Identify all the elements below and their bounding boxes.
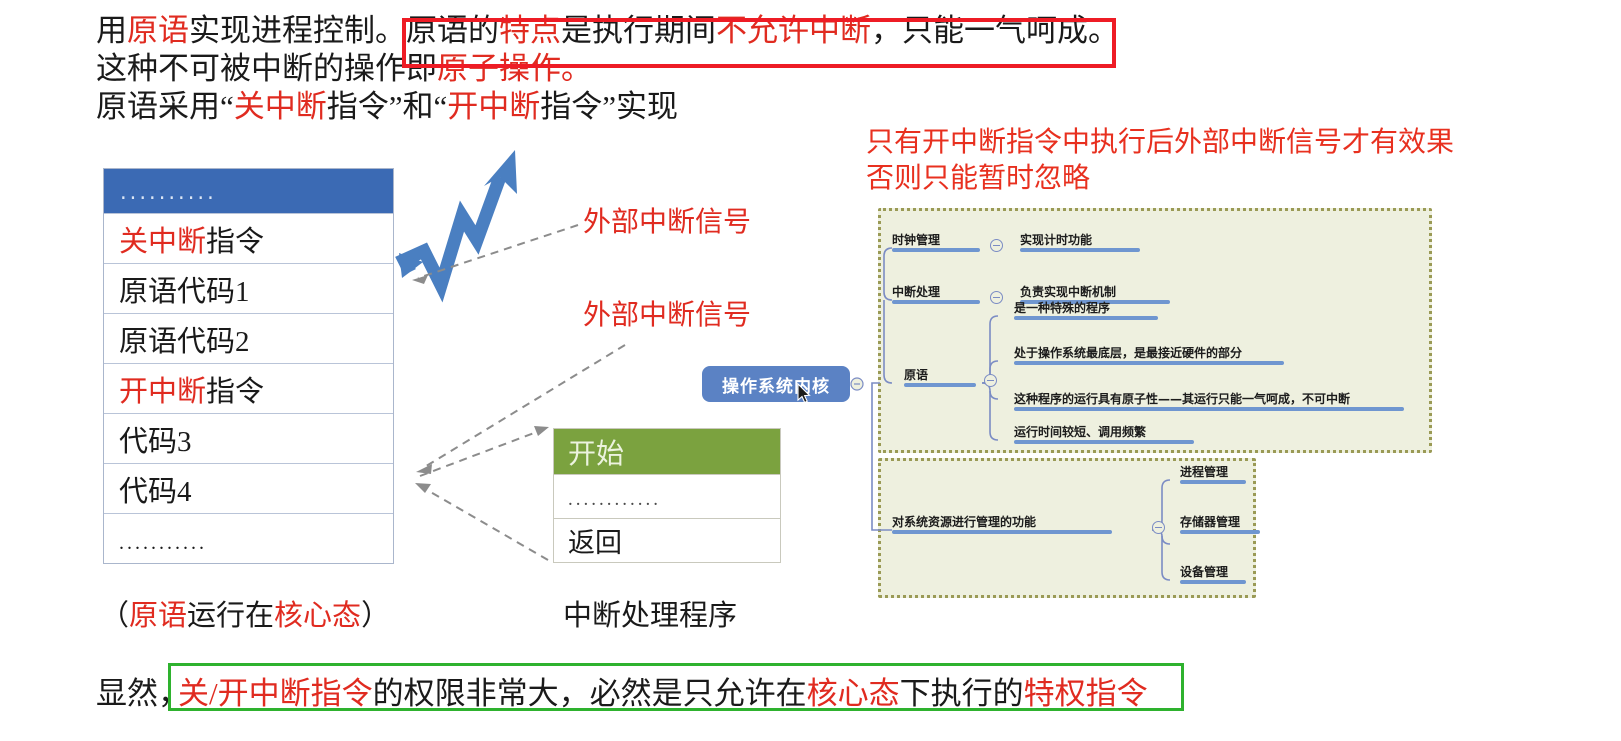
text-run: 原语的: [406, 13, 499, 48]
text-run: 的权限非常大，必然是只允许在: [373, 676, 807, 711]
mindmap-node-interrupt-handling[interactable]: 中断处理: [892, 283, 940, 300]
bottom-conclusion-prefix: 显然，: [96, 668, 189, 713]
mindmap: 时钟管理实现计时功能中断处理负责实现中断机制原语是一种特殊的程序处于操作系统最底…: [862, 200, 1432, 600]
text-run: 下执行的: [900, 676, 1024, 711]
mindmap-node-primitive-child-1[interactable]: 是一种特殊的程序: [1014, 299, 1110, 316]
mindmap-node-primitive-child-3[interactable]: 这种程序的运行具有原子性——其运行只能一气呵成，不可中断: [1014, 390, 1350, 407]
external-interrupt-signal-label-1: 外部中断信号: [583, 200, 751, 240]
mouse-cursor-icon: [797, 383, 813, 405]
mindmap-node-clock-management[interactable]: 时钟管理: [892, 231, 940, 248]
primitive-table-header: ..........: [104, 169, 393, 213]
row-keyword: 开中断: [119, 368, 206, 410]
red-note-line-1: 只有开中断指令中执行后外部中断信号才有效果: [866, 124, 1566, 160]
interrupt-handler-caption: 中断处理程序: [563, 592, 737, 634]
primitive-table-row: ...........: [104, 513, 393, 563]
text-run: 关/开中断指令: [178, 676, 373, 711]
text-run: 运行在: [187, 600, 274, 632]
text-run: ，只能一气呵成。: [871, 13, 1119, 48]
text-run: （: [100, 600, 129, 632]
primitive-code-table: .......... 关中断指令原语代码1原语代码2开中断指令代码3代码4...…: [103, 168, 394, 564]
text-run: 特点: [499, 13, 561, 48]
row-text: 代码4: [119, 468, 192, 510]
row-text: 代码3: [119, 418, 192, 460]
top-paragraph-line-2: 这种不可被中断的操作即原子操作。: [96, 50, 1196, 88]
text-run: 开中断: [447, 89, 540, 124]
mindmap-node-underline: [892, 248, 980, 252]
text-run: 用: [96, 13, 127, 48]
mindmap-node-underline: [1180, 480, 1246, 484]
text-run: 关中断: [234, 89, 327, 124]
text-run: 指令”和“: [327, 89, 448, 124]
text-run: 这种不可被中断的操作即: [96, 51, 437, 86]
mindmap-collapse-clock[interactable]: [990, 239, 1003, 252]
external-interrupt-signal-label-2: 外部中断信号: [583, 293, 751, 333]
dashed-arrow-signal-1: [412, 225, 578, 284]
mindmap-node-underline: [1014, 440, 1194, 444]
mindmap-node-storage-management[interactable]: 存储器管理: [1180, 513, 1240, 530]
text-run: 原语: [129, 600, 187, 632]
primitive-table-row: 关中断指令: [104, 213, 393, 263]
text-run: 核心态: [807, 676, 900, 711]
row-keyword: 关中断: [119, 218, 206, 260]
text-run: ）: [361, 600, 390, 632]
dashed-arrow-return: [415, 483, 548, 560]
row-text: ...........: [119, 532, 207, 555]
primitive-table-body: 关中断指令原语代码1原语代码2开中断指令代码3代码4...........: [104, 213, 393, 563]
mindmap-node-underline: [892, 300, 980, 304]
zigzag-arrow-icon: [399, 150, 517, 285]
mindmap-node-underline: [1180, 580, 1246, 584]
primitive-table-row: 原语代码2: [104, 313, 393, 363]
mindmap-collapse-primitive[interactable]: [984, 374, 997, 387]
text-run: 原子操作。: [437, 51, 592, 86]
row-text: 原语代码1: [119, 268, 250, 310]
top-paragraph-line-1: 用原语实现进程控制。原语的特点是执行期间不允许中断，只能一气呵成。: [96, 12, 1196, 50]
mindmap-node-primitive-child-4[interactable]: 运行时间较短、调用频繁: [1014, 423, 1146, 440]
mindmap-collapse-resource[interactable]: [1152, 521, 1165, 534]
mindmap-node-device-management[interactable]: 设备管理: [1180, 563, 1228, 580]
text-run: 特权指令: [1024, 676, 1148, 711]
isr-return-row: 返回: [554, 518, 780, 562]
primitive-table-row: 代码3: [104, 413, 393, 463]
red-note-line-2: 否则只能暂时忽略: [866, 160, 1566, 196]
text-run: 核心态: [274, 600, 361, 632]
row-text: 指令: [206, 218, 264, 260]
interrupt-handler-box: 开始 ............ 返回: [553, 428, 781, 563]
mindmap-node-underline: [1180, 530, 1260, 534]
mindmap-node-underline: [1014, 361, 1284, 365]
bottom-conclusion-text: 关/开中断指令的权限非常大，必然是只允许在核心态下执行的特权指令: [178, 668, 1148, 713]
mindmap-node-primitive[interactable]: 原语: [904, 366, 928, 383]
text-run: 实现进程控制。: [189, 13, 406, 48]
primitive-header-dots: ..........: [120, 180, 217, 204]
top-paragraph: 用原语实现进程控制。原语的特点是执行期间不允许中断，只能一气呵成。 这种不可被中…: [96, 12, 1196, 126]
text-run: 不允许中断: [716, 13, 871, 48]
mindmap-node-underline: [904, 383, 976, 387]
dashed-arrow-to-handler: [420, 426, 549, 476]
mindmap-node-underline: [892, 530, 1112, 534]
primitive-table-caption: （原语运行在核心态）: [100, 592, 420, 634]
mindmap-node-interrupt-desc[interactable]: 负责实现中断机制: [1020, 283, 1116, 300]
primitive-table-row: 原语代码1: [104, 263, 393, 313]
primitive-table-row: 代码4: [104, 463, 393, 513]
isr-body-dots: ............: [554, 474, 780, 518]
text-run: 原语采用“: [96, 89, 234, 124]
text-run: 指令”实现: [540, 89, 678, 124]
red-annotation-note: 只有开中断指令中执行后外部中断信号才有效果 否则只能暂时忽略: [866, 124, 1566, 196]
top-paragraph-line-3: 原语采用“关中断指令”和“开中断指令”实现: [96, 88, 1196, 126]
text-run: 原语: [127, 13, 189, 48]
mindmap-node-underline: [1020, 248, 1140, 252]
isr-header: 开始: [554, 429, 780, 474]
os-kernel-node[interactable]: 操作系统内核: [702, 366, 850, 402]
mindmap-node-process-management[interactable]: 进程管理: [1180, 463, 1228, 480]
mindmap-collapse-interrupt[interactable]: [990, 291, 1003, 304]
mindmap-node-primitive-child-2[interactable]: 处于操作系统最底层，是最接近硬件的部分: [1014, 344, 1242, 361]
text-run: 是执行期间: [561, 13, 716, 48]
mindmap-node-underline: [1014, 407, 1404, 411]
slide-canvas: 用原语实现进程控制。原语的特点是执行期间不允许中断，只能一气呵成。 这种不可被中…: [0, 0, 1621, 741]
row-text: 指令: [206, 368, 264, 410]
mindmap-node-resource-management[interactable]: 对系统资源进行管理的功能: [892, 513, 1036, 530]
primitive-table-row: 开中断指令: [104, 363, 393, 413]
row-text: 原语代码2: [119, 318, 250, 360]
mindmap-node-underline: [1014, 316, 1158, 320]
mindmap-node-clock-desc[interactable]: 实现计时功能: [1020, 231, 1092, 248]
